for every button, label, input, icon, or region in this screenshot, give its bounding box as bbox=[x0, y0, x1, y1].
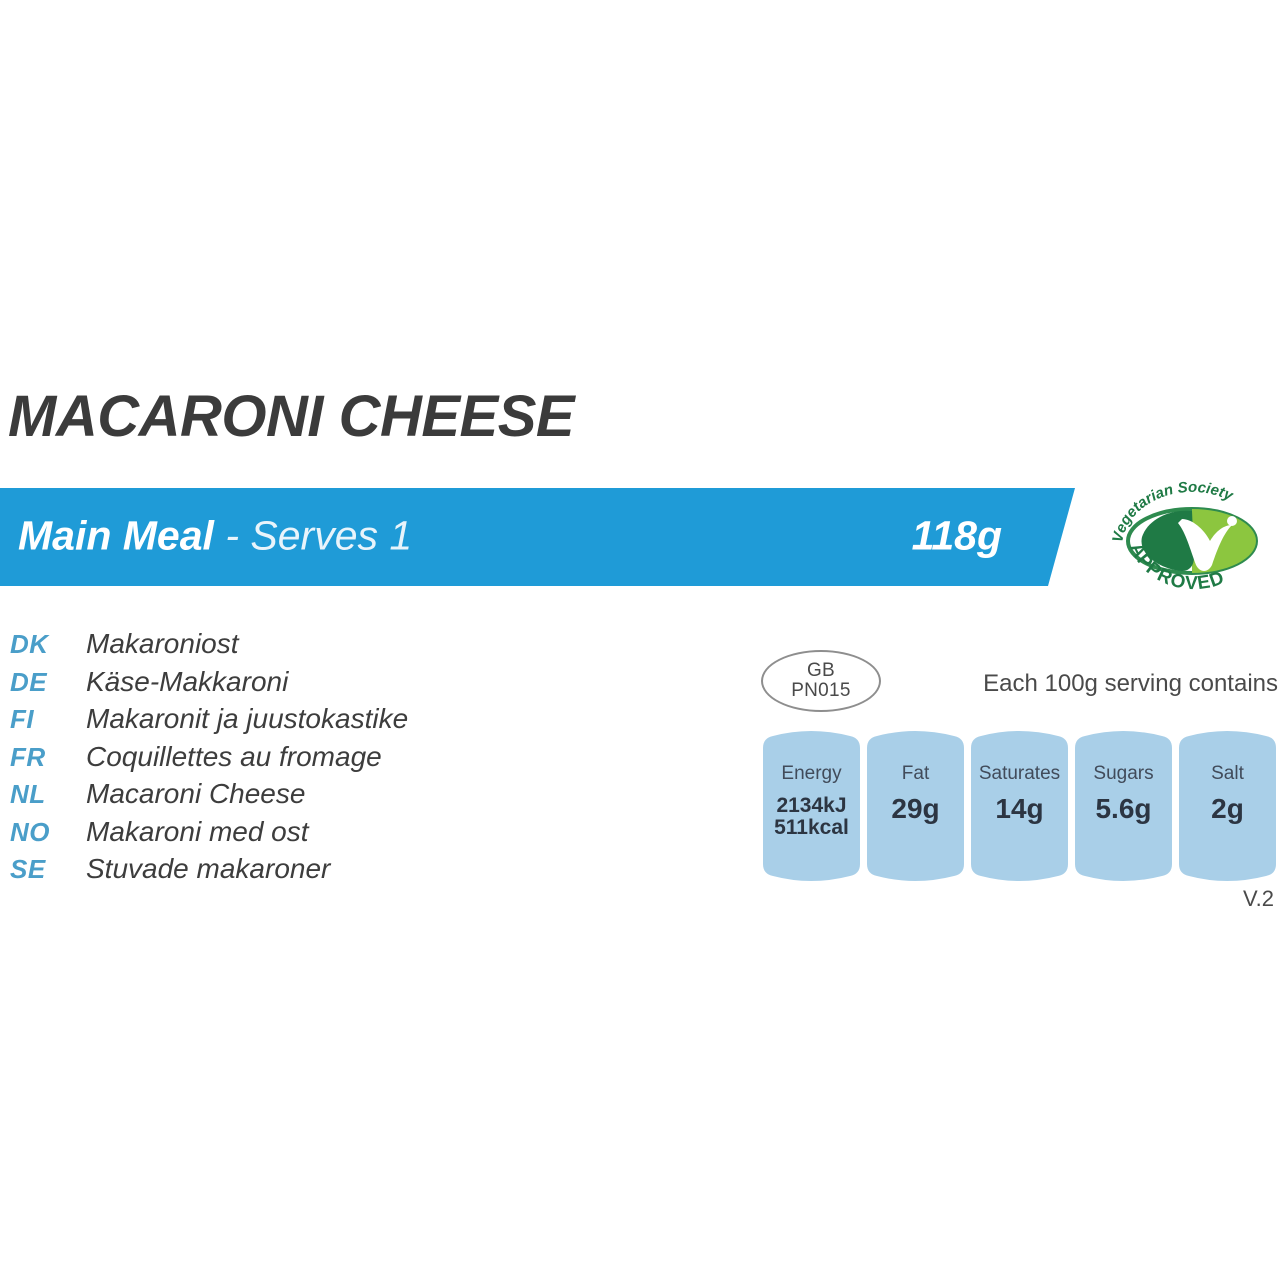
banner-serves: - Serves 1 bbox=[225, 513, 412, 559]
translated-product-name: Macaroni Cheese bbox=[86, 778, 305, 810]
nutrition-panel: Energy 2134kJ 511kcal Fat 29g Saturates … bbox=[763, 726, 1280, 884]
language-code: DK bbox=[10, 629, 86, 660]
serving-size-header: Each 100g serving contains bbox=[983, 670, 1278, 698]
language-code: FR bbox=[10, 742, 86, 773]
translated-product-name: Makaroni med ost bbox=[86, 816, 309, 848]
translated-product-name: Käse-Makkaroni bbox=[86, 666, 288, 698]
language-code: NL bbox=[10, 779, 86, 810]
translation-row: NO Makaroni med ost bbox=[10, 816, 630, 854]
nutrient-label: Fat bbox=[902, 764, 929, 783]
translation-row: FR Coquillettes au fromage bbox=[10, 741, 630, 779]
language-code: NO bbox=[10, 817, 86, 848]
translated-product-name: Coquillettes au fromage bbox=[86, 741, 382, 773]
plant-number: PN015 bbox=[791, 681, 851, 701]
nutrient-label: Energy bbox=[781, 764, 841, 783]
nutrient-value: 29g bbox=[891, 794, 939, 824]
language-code: FI bbox=[10, 704, 86, 735]
nutrient-label: Salt bbox=[1211, 764, 1244, 783]
translation-row: FI Makaronit ja juustokastike bbox=[10, 703, 630, 741]
language-code: DE bbox=[10, 667, 86, 698]
translated-product-name: Makaronit ja juustokastike bbox=[86, 703, 408, 735]
nutrition-box-sugars: Sugars 5.6g bbox=[1075, 726, 1172, 884]
nutrient-value-kcal: 511kcal bbox=[774, 817, 849, 839]
nutrient-label: Sugars bbox=[1093, 764, 1153, 783]
nutrient-value: 5.6g bbox=[1095, 794, 1151, 824]
vegetarian-society-approved-logo: Vegetarian Society APPROVED bbox=[1108, 479, 1276, 595]
version-label: V.2 bbox=[1243, 886, 1274, 912]
country-code-badge: GB PN015 bbox=[761, 650, 881, 712]
nutrition-box-salt: Salt 2g bbox=[1179, 726, 1276, 884]
nutrient-value: 14g bbox=[995, 794, 1043, 824]
meal-banner: Main Meal - Serves 1 118g bbox=[0, 488, 1080, 586]
language-code: SE bbox=[10, 854, 86, 885]
page-title: MACARONI CHEESE bbox=[8, 388, 574, 446]
translations-list: DK Makaroniost DE Käse-Makkaroni FI Maka… bbox=[10, 628, 630, 891]
translation-row: DK Makaroniost bbox=[10, 628, 630, 666]
nutrient-label: Saturates bbox=[979, 764, 1060, 783]
banner-meal-type: Main Meal bbox=[18, 513, 214, 559]
translated-product-name: Makaroniost bbox=[86, 628, 239, 660]
nutrient-value: 2134kJ 511kcal bbox=[774, 795, 849, 840]
nutrition-box-fat: Fat 29g bbox=[867, 726, 964, 884]
translation-row: NL Macaroni Cheese bbox=[10, 778, 630, 816]
country-code: GB bbox=[807, 661, 835, 681]
nutrient-value: 2g bbox=[1211, 794, 1244, 824]
nutrition-box-energy: Energy 2134kJ 511kcal bbox=[763, 726, 860, 884]
nutrition-box-saturates: Saturates 14g bbox=[971, 726, 1068, 884]
banner-weight: 118g bbox=[912, 516, 1002, 557]
translation-row: DE Käse-Makkaroni bbox=[10, 666, 630, 704]
translation-row: SE Stuvade makaroner bbox=[10, 853, 630, 891]
banner-meal-info: Main Meal - Serves 1 bbox=[18, 516, 412, 557]
nutrient-value-kj: 2134kJ bbox=[774, 795, 849, 817]
translated-product-name: Stuvade makaroner bbox=[86, 853, 330, 885]
